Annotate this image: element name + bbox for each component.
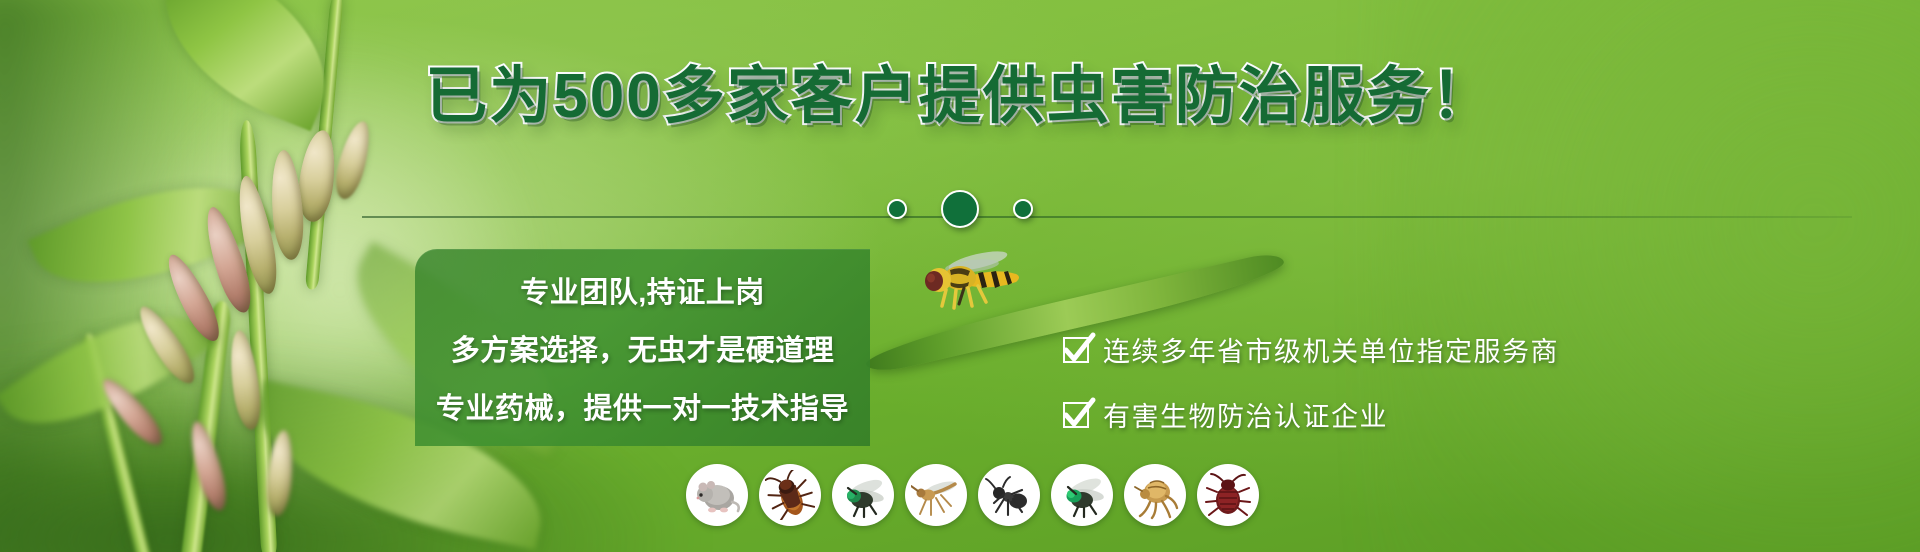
pest-icon-circle[interactable] xyxy=(1124,464,1186,526)
list-item: 有害生物防治认证企业 xyxy=(1063,395,1559,434)
pest-icon-circle[interactable] xyxy=(1051,464,1113,526)
page-title: 已为500多家客户提供虫害防治服务！ xyxy=(0,66,1920,128)
list-item-label: 连续多年省市级机关单位指定服务商 xyxy=(1103,330,1559,369)
checkbox-check-icon xyxy=(1063,402,1089,428)
list-item-label: 有害生物防治认证企业 xyxy=(1103,395,1388,434)
pest-control-banner: 已为500多家客户提供虫害防治服务！ xyxy=(0,0,1920,552)
pest-icon-circle[interactable] xyxy=(978,464,1040,526)
mosquito-icon xyxy=(911,470,961,520)
feature-line-3: 专业药械，提供一对一技术指导 xyxy=(436,385,849,427)
dot-small-right xyxy=(1013,199,1033,219)
bedbug-icon xyxy=(1203,470,1253,520)
pest-icon-circle[interactable] xyxy=(759,464,821,526)
pest-icon-circle[interactable] xyxy=(1197,464,1259,526)
ant-icon xyxy=(984,470,1034,520)
blowfly-icon xyxy=(1057,470,1107,520)
pest-type-icons xyxy=(686,464,1259,526)
page-title-text: 已为500多家客户提供虫害防治服务！ xyxy=(425,62,1494,131)
rodent-icon xyxy=(692,470,742,520)
features-panel-text: 专业团队,持证上岗 多方案选择，无虫才是硬道理 专业药械，提供一对一技术指导 xyxy=(415,249,870,446)
decorative-dots xyxy=(887,190,1033,228)
credentials-list: 连续多年省市级机关单位指定服务商 有害生物防治认证企业 xyxy=(1063,330,1559,434)
list-item: 连续多年省市级机关单位指定服务商 xyxy=(1063,330,1559,369)
fly-icon xyxy=(838,470,888,520)
dot-large-center xyxy=(941,190,979,228)
flea-icon xyxy=(1130,470,1180,520)
divider-line xyxy=(362,216,1852,218)
feature-line-1: 专业团队,持证上岗 xyxy=(520,269,765,311)
feature-line-2: 多方案选择，无虫才是硬道理 xyxy=(451,327,835,369)
dot-small-left xyxy=(887,199,907,219)
pest-icon-circle[interactable] xyxy=(832,464,894,526)
checkbox-check-icon xyxy=(1063,337,1089,363)
pest-icon-circle[interactable] xyxy=(905,464,967,526)
cockroach-icon xyxy=(765,470,815,520)
pest-icon-circle[interactable] xyxy=(686,464,748,526)
